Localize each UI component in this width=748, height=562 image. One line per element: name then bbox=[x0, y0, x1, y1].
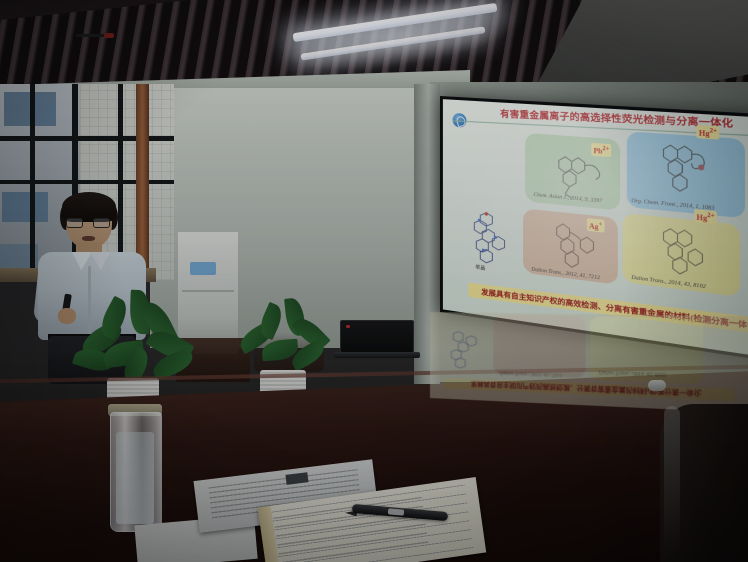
cabinet-seam bbox=[182, 290, 234, 292]
glasses-lens-right bbox=[93, 218, 110, 228]
laptop-base bbox=[334, 352, 420, 358]
glasses-icon bbox=[66, 218, 112, 228]
crystal-label: 单晶 bbox=[475, 263, 485, 271]
photo-scene: 有害重金属离子的高选择性荧光检测与分离一体化 Pb2+ Chem. Asian … bbox=[0, 0, 748, 562]
laptop-logo-icon bbox=[346, 325, 350, 328]
water-level bbox=[116, 432, 154, 524]
single-crystal-structure-icon bbox=[462, 209, 512, 268]
glasses-lens-left bbox=[66, 218, 83, 228]
reflection-panel-ag bbox=[493, 315, 585, 378]
reflection-surface: Dalton Trans., 2012, 41, 7212 Dalton Tra… bbox=[430, 312, 748, 413]
reflection-crystal-icon bbox=[442, 322, 484, 370]
wireless-mouse[interactable] bbox=[648, 380, 666, 391]
cable-connector bbox=[104, 33, 114, 38]
laptop[interactable] bbox=[334, 320, 416, 360]
cabinet-label-icon bbox=[190, 262, 216, 275]
chair-highlight bbox=[664, 406, 680, 556]
reflection-citation-ag: Dalton Trans., 2012, 41, 7212 bbox=[499, 369, 562, 376]
table-reflection-of-slide: Dalton Trans., 2012, 41, 7212 Dalton Tra… bbox=[430, 312, 748, 413]
potted-plant-center bbox=[236, 306, 344, 400]
presenter-mouth bbox=[82, 236, 95, 241]
ion-label-hg-yellow: Hg2+ bbox=[694, 209, 717, 225]
ion-label-pb: Pb2+ bbox=[591, 143, 611, 158]
laptop-screen bbox=[340, 320, 414, 353]
ion-label-hg-blue: Hg2+ bbox=[696, 125, 719, 140]
pen-clip bbox=[388, 508, 404, 515]
molecule-structure-hg-blue-icon bbox=[650, 139, 718, 206]
ion-label-ag: Ag+ bbox=[587, 218, 604, 233]
